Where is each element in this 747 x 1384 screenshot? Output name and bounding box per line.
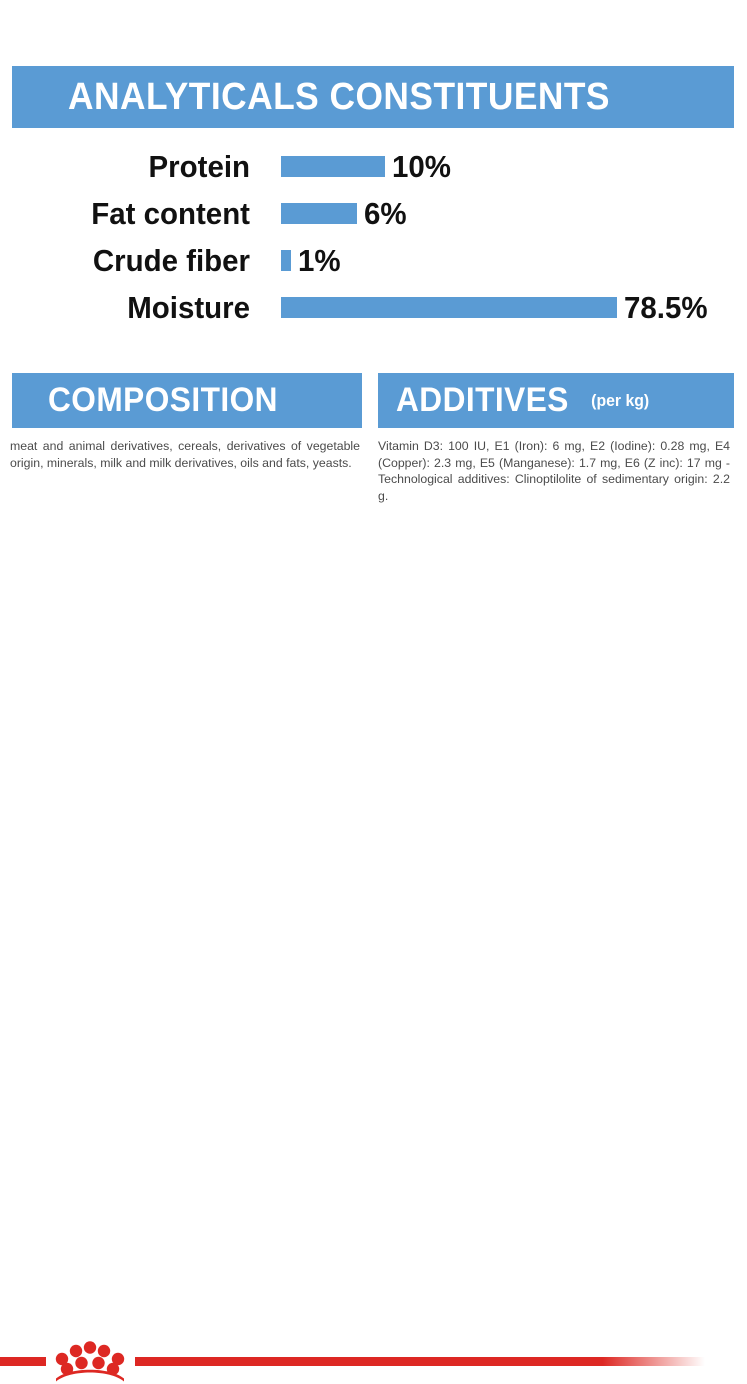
bar-track-moisture: 78.5% [281,290,712,326]
footer [0,660,747,741]
bar-label-protein: Protein [13,149,251,185]
bar-fill-protein [281,156,385,177]
bar-track-crude-fiber: 1% [281,243,343,279]
analyticals-bar-chart: Protein 10% Fat content 6% Crude fiber 1… [0,143,747,331]
bar-label-fat-content: Fat content [13,196,251,232]
composition-banner: COMPOSITION [12,373,362,428]
bar-track-fat-content: 6% [281,196,409,232]
bar-row: Protein 10% [0,143,747,190]
page-title: ANALYTICALS CONSTITUENTS [68,76,610,119]
bar-value-protein: 10% [392,149,451,185]
composition-text: meat and animal derivatives, cereals, de… [10,438,360,471]
bar-value-moisture: 78.5% [624,290,708,326]
composition-heading: COMPOSITION [48,381,278,420]
bar-fill-crude-fiber [281,250,291,271]
additives-text: Vitamin D3: 100 IU, E1 (Iron): 6 mg, E2 … [378,438,730,504]
bar-fill-moisture [281,297,617,318]
bar-fill-fat-content [281,203,357,224]
royal-canin-crown-icon [50,1338,130,1384]
bar-label-moisture: Moisture [13,290,251,326]
bar-row: Crude fiber 1% [0,237,747,284]
analyticals-constituents-banner: ANALYTICALS CONSTITUENTS [12,66,734,128]
bar-value-fat-content: 6% [364,196,407,232]
bar-track-protein: 10% [281,149,454,185]
bar-row: Moisture 78.5% [0,284,747,331]
bar-value-crude-fiber: 1% [298,243,341,279]
bar-label-crude-fiber: Crude fiber [13,243,251,279]
footer-rule-right [135,1357,705,1366]
footer-rule-left [0,1357,46,1366]
additives-heading-unit: (per kg) [591,391,649,411]
bar-row: Fat content 6% [0,190,747,237]
additives-heading: ADDITIVES [396,381,569,420]
additives-banner: ADDITIVES (per kg) [378,373,734,428]
